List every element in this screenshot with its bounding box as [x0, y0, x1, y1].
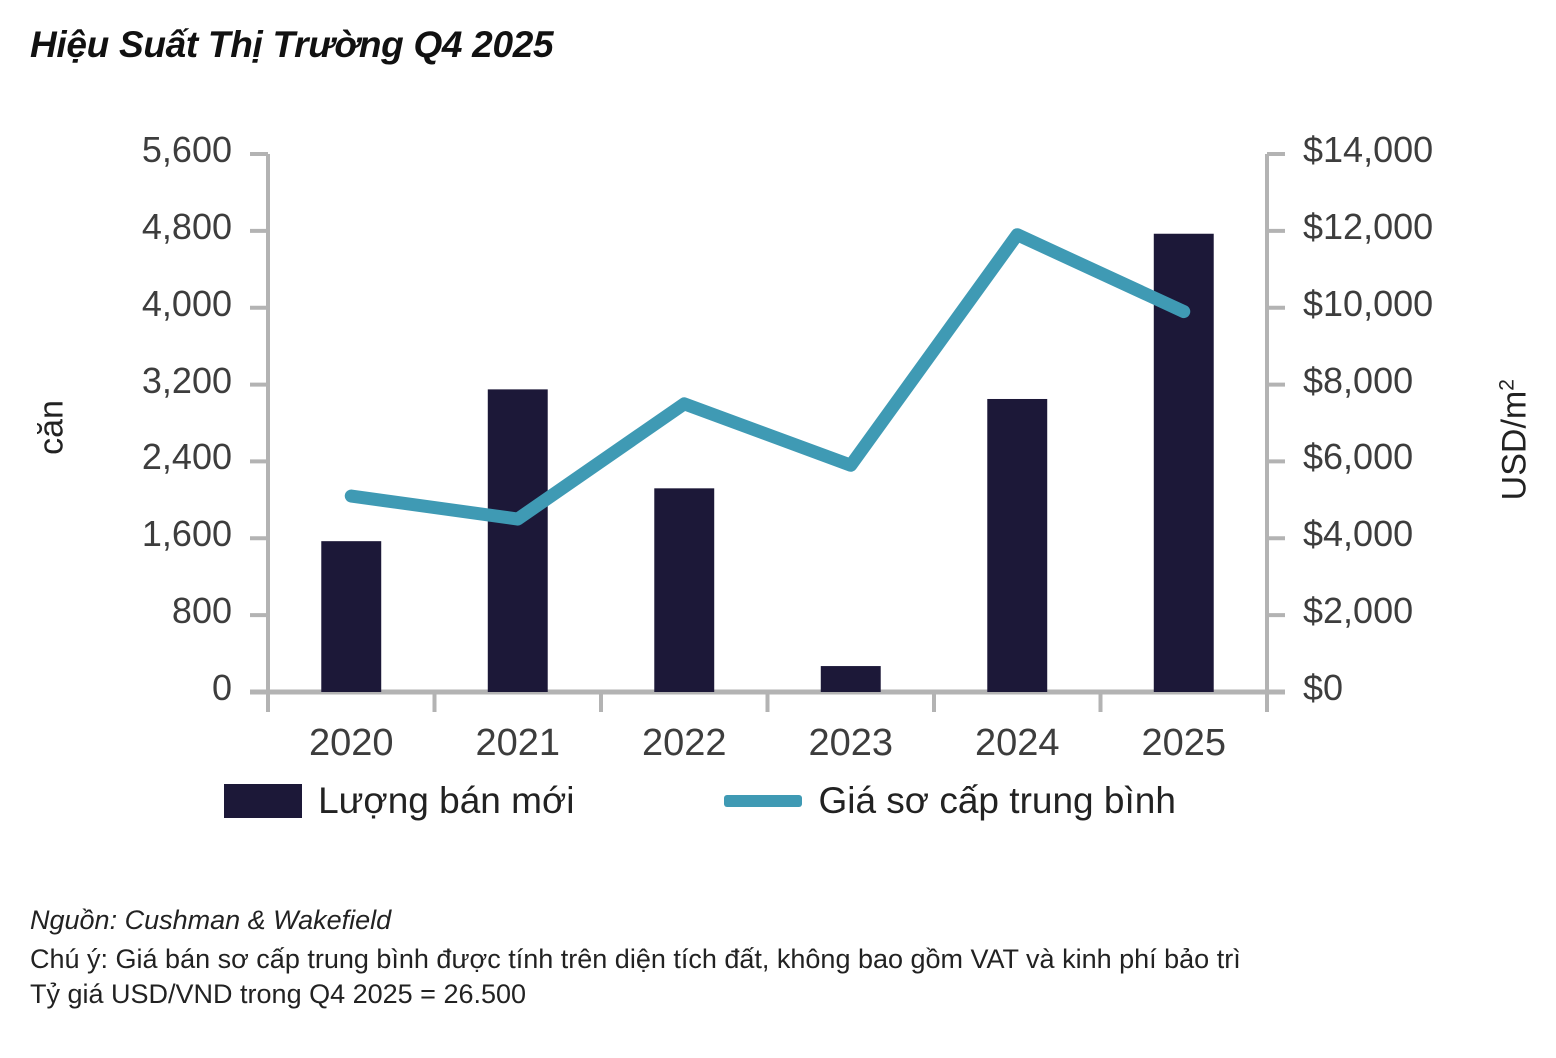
y-axis-left-tick-label: 800	[0, 593, 232, 629]
bar[interactable]	[654, 488, 714, 692]
y-axis-left-tick-label: 4,000	[0, 286, 232, 322]
legend-label-average-price: Giá sơ cấp trung bình	[818, 780, 1175, 822]
y-axis-right-ticks	[1267, 154, 1285, 692]
bar[interactable]	[987, 399, 1047, 692]
y-axis-right-tick-label: $0	[1303, 670, 1343, 706]
bar[interactable]	[488, 389, 548, 692]
y-axis-left-tick-label: 2,400	[0, 439, 232, 475]
y-axis-right-tick-label: $2,000	[1303, 593, 1413, 629]
x-axis-tick-label: 2021	[435, 722, 602, 765]
chart-plot-area: căn USD/m2 08001,6002,4003,2004,0004,800…	[0, 0, 1556, 900]
legend-label-new-sales: Lượng bán mới	[318, 780, 574, 822]
y-axis-right-tick-label: $4,000	[1303, 516, 1413, 552]
y-axis-left-tick-label: 0	[0, 670, 232, 706]
y-axis-right-tick-label: $12,000	[1303, 209, 1433, 245]
x-axis-ticks	[268, 692, 1267, 712]
x-axis-tick-label: 2025	[1101, 722, 1268, 765]
y-axis-left-tick-label: 1,600	[0, 516, 232, 552]
bar[interactable]	[821, 666, 881, 692]
y-axis-right-tick-label: $10,000	[1303, 286, 1433, 322]
y-axis-right-title: USD/m2	[1495, 350, 1534, 530]
legend-item-average-price[interactable]: Giá sơ cấp trung bình	[724, 780, 1175, 822]
y-axis-left-tick-label: 4,800	[0, 209, 232, 245]
legend-line-swatch-icon	[724, 795, 802, 807]
chart-footnotes: Nguồn: Cushman & Wakefield Chú ý: Giá bá…	[30, 905, 1530, 1011]
y-axis-left-ticks	[250, 154, 268, 692]
legend-item-new-sales[interactable]: Lượng bán mới	[224, 780, 574, 822]
source-note: Nguồn: Cushman & Wakefield	[30, 905, 1530, 936]
y-axis-right-tick-label: $6,000	[1303, 439, 1413, 475]
y-axis-left-tick-label: 3,200	[0, 363, 232, 399]
bar[interactable]	[321, 541, 381, 692]
note-line-1: Chú ý: Giá bán sơ cấp trung bình được tí…	[30, 942, 1530, 977]
legend-bar-swatch-icon	[224, 784, 302, 818]
y-axis-left-tick-label: 5,600	[0, 132, 232, 168]
bar-series	[321, 234, 1213, 692]
note-line-2: Tỷ giá USD/VND trong Q4 2025 = 26.500	[30, 977, 1530, 1012]
x-axis-tick-label: 2020	[268, 722, 435, 765]
x-axis-tick-label: 2023	[768, 722, 935, 765]
x-axis-tick-label: 2022	[601, 722, 768, 765]
x-axis-tick-label: 2024	[934, 722, 1101, 765]
y-axis-right-tick-label: $8,000	[1303, 363, 1413, 399]
line-series	[351, 235, 1184, 519]
chart-legend: Lượng bán mới Giá sơ cấp trung bình	[0, 780, 1400, 822]
y-axis-right-tick-label: $14,000	[1303, 132, 1433, 168]
